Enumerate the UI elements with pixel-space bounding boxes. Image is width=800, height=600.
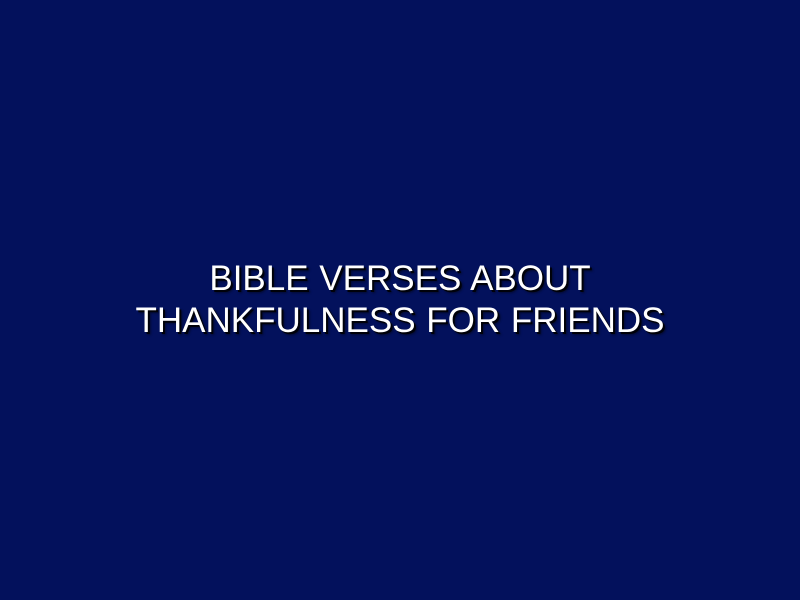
title-card: BIBLE VERSES ABOUT THANKFULNESS FOR FRIE…	[0, 0, 800, 600]
page-title: BIBLE VERSES ABOUT THANKFULNESS FOR FRIE…	[70, 258, 730, 342]
headline-block: BIBLE VERSES ABOUT THANKFULNESS FOR FRIE…	[70, 258, 730, 342]
